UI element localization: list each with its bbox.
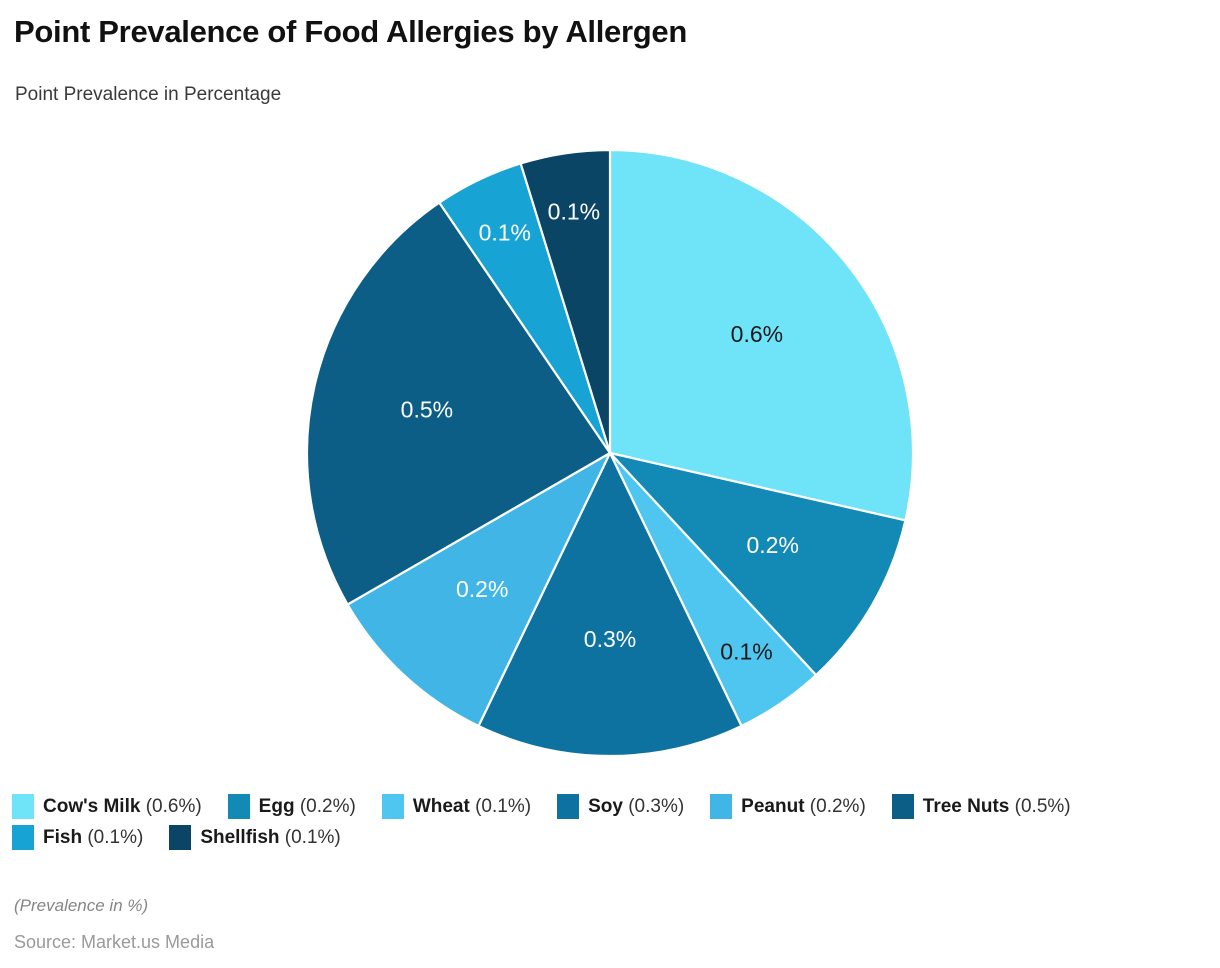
legend-item-value: (0.1%) (280, 827, 341, 848)
legend-item-value: (0.1%) (470, 796, 531, 817)
pie-slice-label: 0.3% (584, 626, 636, 652)
legend-swatch-icon (12, 825, 34, 850)
legend-swatch-icon (557, 794, 579, 819)
legend-item[interactable]: Peanut (0.2%) (710, 791, 866, 822)
chart-legend: Cow's Milk (0.6%)Egg (0.2%)Wheat (0.1%)S… (12, 791, 1208, 853)
pie-slice-label: 0.6% (731, 321, 783, 347)
legend-item-name: Cow's Milk (43, 796, 140, 817)
pie-chart: 0.6%0.2%0.1%0.3%0.2%0.5%0.1%0.1% (0, 0, 1220, 790)
pie-slice-group (307, 150, 913, 756)
legend-item-name: Wheat (413, 796, 470, 817)
legend-label: Soy (0.3%) (588, 797, 684, 816)
legend-item[interactable]: Cow's Milk (0.6%) (12, 791, 202, 822)
legend-item[interactable]: Soy (0.3%) (557, 791, 684, 822)
legend-item-value: (0.2%) (295, 796, 356, 817)
legend-swatch-icon (382, 794, 404, 819)
legend-item[interactable]: Tree Nuts (0.5%) (892, 791, 1071, 822)
legend-item-name: Fish (43, 827, 82, 848)
legend-item-value: (0.3%) (623, 796, 684, 817)
legend-swatch-icon (228, 794, 250, 819)
pie-slice-label: 0.1% (548, 198, 600, 224)
legend-item-name: Egg (259, 796, 295, 817)
pie-slice-label: 0.1% (479, 220, 531, 246)
footer-source: Source: Market.us Media (14, 932, 214, 953)
footer-note: (Prevalence in %) (14, 896, 148, 916)
legend-item-value: (0.1%) (82, 827, 143, 848)
legend-swatch-icon (892, 794, 914, 819)
legend-swatch-icon (169, 825, 191, 850)
pie-slice-label: 0.2% (456, 576, 508, 602)
legend-label: Fish (0.1%) (43, 828, 143, 847)
legend-label: Peanut (0.2%) (741, 797, 866, 816)
pie-chart-svg: 0.6%0.2%0.1%0.3%0.2%0.5%0.1%0.1% (0, 0, 1220, 790)
legend-item-name: Peanut (741, 796, 804, 817)
legend-label: Tree Nuts (0.5%) (923, 797, 1071, 816)
legend-item-value: (0.2%) (805, 796, 866, 817)
legend-item-name: Shellfish (200, 827, 279, 848)
legend-item-name: Tree Nuts (923, 796, 1010, 817)
legend-item[interactable]: Egg (0.2%) (228, 791, 356, 822)
legend-label: Shellfish (0.1%) (200, 828, 340, 847)
legend-item-value: (0.5%) (1009, 796, 1070, 817)
legend-label: Cow's Milk (0.6%) (43, 797, 202, 816)
legend-label: Wheat (0.1%) (413, 797, 531, 816)
legend-item[interactable]: Shellfish (0.1%) (169, 822, 340, 853)
legend-item-name: Soy (588, 796, 623, 817)
legend-swatch-icon (12, 794, 34, 819)
pie-slice-label: 0.2% (746, 532, 798, 558)
legend-item-value: (0.6%) (140, 796, 201, 817)
pie-slice-label: 0.5% (401, 396, 453, 422)
legend-label: Egg (0.2%) (259, 797, 356, 816)
legend-item[interactable]: Fish (0.1%) (12, 822, 143, 853)
legend-swatch-icon (710, 794, 732, 819)
pie-slice-label: 0.1% (720, 638, 772, 664)
legend-item[interactable]: Wheat (0.1%) (382, 791, 531, 822)
